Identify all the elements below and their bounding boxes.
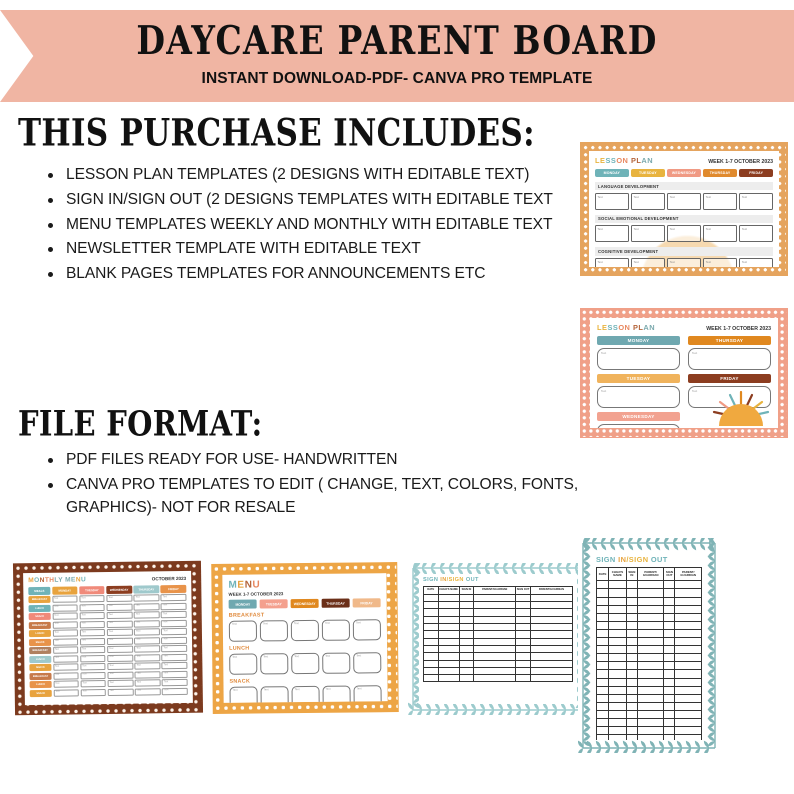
table-cell[interactable] bbox=[626, 621, 637, 629]
menu-cell[interactable]: Text bbox=[108, 688, 134, 695]
menu-cell[interactable]: Text bbox=[134, 611, 160, 618]
table-row[interactable] bbox=[597, 694, 702, 702]
table-cell[interactable] bbox=[438, 660, 459, 667]
menu-cell[interactable]: Text bbox=[135, 688, 161, 695]
table-cell[interactable] bbox=[438, 631, 459, 638]
table-cell[interactable] bbox=[597, 686, 609, 694]
table-cell[interactable] bbox=[626, 597, 637, 605]
table-cell[interactable] bbox=[424, 631, 439, 638]
table-cell[interactable] bbox=[597, 597, 609, 605]
menu-cell[interactable]: Text bbox=[80, 663, 106, 670]
table-cell[interactable] bbox=[609, 597, 627, 605]
table-row[interactable] bbox=[424, 602, 573, 609]
menu-cell[interactable]: Text bbox=[53, 672, 79, 679]
menu-cell[interactable]: Text bbox=[353, 652, 381, 673]
table-cell[interactable] bbox=[459, 609, 474, 616]
table-cell[interactable] bbox=[637, 686, 664, 694]
table-cell[interactable] bbox=[637, 718, 664, 726]
table-row[interactable] bbox=[597, 686, 702, 694]
menu-cell[interactable]: Text bbox=[162, 653, 188, 660]
table-cell[interactable] bbox=[438, 624, 459, 631]
table-cell[interactable] bbox=[438, 645, 459, 652]
table-cell[interactable] bbox=[459, 653, 474, 660]
table-row[interactable] bbox=[597, 654, 702, 662]
table-cell[interactable] bbox=[626, 727, 637, 735]
table-cell[interactable] bbox=[424, 645, 439, 652]
table-cell[interactable] bbox=[637, 702, 664, 710]
menu-cell[interactable]: Text bbox=[106, 595, 132, 602]
table-cell[interactable] bbox=[675, 589, 702, 597]
table-cell[interactable] bbox=[516, 602, 531, 609]
table-cell[interactable] bbox=[609, 581, 627, 589]
menu-cell[interactable]: Text bbox=[53, 638, 79, 645]
table-cell[interactable] bbox=[597, 662, 609, 670]
menu-cell[interactable]: Text bbox=[52, 595, 78, 602]
table-cell[interactable] bbox=[664, 686, 675, 694]
table-cell[interactable] bbox=[530, 653, 572, 660]
table-cell[interactable] bbox=[626, 670, 637, 678]
table-cell[interactable] bbox=[626, 718, 637, 726]
table-cell[interactable] bbox=[675, 702, 702, 710]
menu-cell[interactable]: Text bbox=[162, 687, 188, 694]
table-cell[interactable] bbox=[459, 660, 474, 667]
table-cell[interactable] bbox=[637, 678, 664, 686]
table-cell[interactable] bbox=[626, 589, 637, 597]
table-row[interactable] bbox=[424, 616, 573, 623]
table-cell[interactable] bbox=[637, 629, 664, 637]
menu-cell[interactable]: Text bbox=[291, 620, 319, 641]
table-cell[interactable] bbox=[424, 609, 439, 616]
menu-cell[interactable]: Text bbox=[161, 602, 187, 609]
table-cell[interactable] bbox=[664, 678, 675, 686]
table-cell[interactable] bbox=[474, 667, 516, 674]
table-cell[interactable] bbox=[459, 645, 474, 652]
menu-cell[interactable]: Text bbox=[107, 603, 133, 610]
table-cell[interactable] bbox=[626, 662, 637, 670]
table-cell[interactable] bbox=[675, 727, 702, 735]
table-cell[interactable] bbox=[530, 638, 572, 645]
menu-cell[interactable]: Text bbox=[80, 680, 106, 687]
table-cell[interactable] bbox=[516, 638, 531, 645]
menu-cell[interactable]: Text bbox=[107, 612, 133, 619]
table-row[interactable] bbox=[597, 581, 702, 589]
table-cell[interactable] bbox=[609, 605, 627, 613]
lesson-cell[interactable]: Text bbox=[703, 258, 737, 267]
menu-cell[interactable]: Text bbox=[80, 629, 106, 636]
menu-cell[interactable]: Text bbox=[162, 662, 188, 669]
table-cell[interactable] bbox=[597, 727, 609, 735]
menu-cell[interactable]: Text bbox=[134, 654, 160, 661]
table-cell[interactable] bbox=[530, 631, 572, 638]
menu-cell[interactable]: Text bbox=[53, 680, 79, 687]
lesson-cell[interactable]: Text bbox=[597, 424, 680, 428]
table-cell[interactable] bbox=[609, 718, 627, 726]
table-cell[interactable] bbox=[459, 594, 474, 601]
table-row[interactable] bbox=[424, 653, 573, 660]
table-cell[interactable] bbox=[459, 631, 474, 638]
table-cell[interactable] bbox=[637, 735, 664, 740]
menu-cell[interactable]: Text bbox=[80, 655, 106, 662]
menu-cell[interactable]: Text bbox=[229, 654, 257, 675]
table-cell[interactable] bbox=[664, 670, 675, 678]
table-row[interactable] bbox=[424, 660, 573, 667]
menu-cell[interactable]: Text bbox=[107, 654, 133, 661]
table-cell[interactable] bbox=[597, 678, 609, 686]
lesson-cell[interactable]: Text bbox=[667, 258, 701, 267]
table-cell[interactable] bbox=[637, 589, 664, 597]
table-row[interactable] bbox=[424, 638, 573, 645]
table-cell[interactable] bbox=[664, 702, 675, 710]
menu-cell[interactable]: Text bbox=[161, 594, 187, 601]
table-cell[interactable] bbox=[438, 667, 459, 674]
table-cell[interactable] bbox=[609, 678, 627, 686]
menu-cell[interactable]: Text bbox=[292, 686, 320, 703]
table-cell[interactable] bbox=[675, 605, 702, 613]
lesson-cell[interactable]: Text bbox=[595, 193, 629, 210]
table-cell[interactable] bbox=[637, 710, 664, 718]
menu-cell[interactable]: Text bbox=[291, 653, 319, 674]
table-cell[interactable] bbox=[459, 602, 474, 609]
table-cell[interactable] bbox=[474, 653, 516, 660]
menu-cell[interactable]: Text bbox=[162, 679, 188, 686]
table-row[interactable] bbox=[597, 678, 702, 686]
table-cell[interactable] bbox=[664, 589, 675, 597]
menu-cell[interactable]: Text bbox=[52, 604, 78, 611]
table-cell[interactable] bbox=[675, 613, 702, 621]
table-cell[interactable] bbox=[675, 662, 702, 670]
table-row[interactable] bbox=[597, 710, 702, 718]
menu-cell[interactable]: Text bbox=[107, 663, 133, 670]
menu-cell[interactable]: Text bbox=[230, 687, 258, 703]
table-cell[interactable] bbox=[626, 613, 637, 621]
table-cell[interactable] bbox=[516, 609, 531, 616]
table-cell[interactable] bbox=[664, 662, 675, 670]
table-cell[interactable] bbox=[438, 609, 459, 616]
lesson-cell[interactable]: Text bbox=[631, 258, 665, 267]
lesson-cell[interactable]: Text bbox=[739, 225, 773, 242]
table-cell[interactable] bbox=[597, 581, 609, 589]
menu-cell[interactable]: Text bbox=[162, 645, 188, 652]
menu-cell[interactable]: Text bbox=[80, 621, 106, 628]
menu-cell[interactable]: Text bbox=[135, 671, 161, 678]
menu-cell[interactable]: Text bbox=[322, 653, 350, 674]
table-cell[interactable] bbox=[474, 675, 516, 682]
table-cell[interactable] bbox=[664, 710, 675, 718]
table-cell[interactable] bbox=[609, 735, 627, 740]
menu-cell[interactable]: Text bbox=[107, 646, 133, 653]
table-row[interactable] bbox=[424, 631, 573, 638]
table-cell[interactable] bbox=[675, 629, 702, 637]
table-cell[interactable] bbox=[664, 629, 675, 637]
table-cell[interactable] bbox=[530, 624, 572, 631]
table-cell[interactable] bbox=[438, 675, 459, 682]
table-cell[interactable] bbox=[597, 629, 609, 637]
table-cell[interactable] bbox=[597, 638, 609, 646]
table-row[interactable] bbox=[597, 589, 702, 597]
table-cell[interactable] bbox=[474, 631, 516, 638]
table-cell[interactable] bbox=[637, 605, 664, 613]
table-cell[interactable] bbox=[626, 629, 637, 637]
table-cell[interactable] bbox=[597, 670, 609, 678]
table-row[interactable] bbox=[597, 613, 702, 621]
table-cell[interactable] bbox=[609, 662, 627, 670]
table-cell[interactable] bbox=[424, 653, 439, 660]
table-cell[interactable] bbox=[516, 616, 531, 623]
menu-cell[interactable]: Text bbox=[79, 612, 105, 619]
menu-cell[interactable]: Text bbox=[135, 679, 161, 686]
table-cell[interactable] bbox=[664, 621, 675, 629]
menu-cell[interactable]: Text bbox=[53, 646, 79, 653]
table-cell[interactable] bbox=[474, 602, 516, 609]
lesson-cell[interactable]: Text bbox=[703, 193, 737, 210]
menu-cell[interactable]: Text bbox=[52, 621, 78, 628]
table-cell[interactable] bbox=[626, 654, 637, 662]
menu-cell[interactable]: Text bbox=[134, 603, 160, 610]
table-cell[interactable] bbox=[637, 727, 664, 735]
table-cell[interactable] bbox=[664, 654, 675, 662]
table-cell[interactable] bbox=[516, 653, 531, 660]
table-row[interactable] bbox=[597, 670, 702, 678]
table-cell[interactable] bbox=[675, 597, 702, 605]
menu-cell[interactable]: Text bbox=[107, 620, 133, 627]
lesson-cell[interactable]: Text bbox=[595, 258, 629, 267]
table-row[interactable] bbox=[424, 675, 573, 682]
menu-cell[interactable]: Text bbox=[134, 645, 160, 652]
table-cell[interactable] bbox=[609, 694, 627, 702]
menu-cell[interactable]: Text bbox=[107, 637, 133, 644]
menu-cell[interactable]: Text bbox=[80, 638, 106, 645]
table-cell[interactable] bbox=[609, 702, 627, 710]
table-row[interactable] bbox=[597, 727, 702, 735]
lesson-cell[interactable]: Text bbox=[631, 193, 665, 210]
table-cell[interactable] bbox=[516, 675, 531, 682]
table-row[interactable] bbox=[597, 662, 702, 670]
table-cell[interactable] bbox=[675, 654, 702, 662]
table-cell[interactable] bbox=[609, 629, 627, 637]
table-cell[interactable] bbox=[424, 667, 439, 674]
menu-cell[interactable]: Text bbox=[323, 686, 351, 703]
menu-cell[interactable]: Text bbox=[79, 595, 105, 602]
table-cell[interactable] bbox=[474, 660, 516, 667]
table-cell[interactable] bbox=[597, 646, 609, 654]
menu-cell[interactable]: Text bbox=[134, 628, 160, 635]
menu-cell[interactable]: Text bbox=[79, 604, 105, 611]
table-cell[interactable] bbox=[438, 602, 459, 609]
table-cell[interactable] bbox=[626, 581, 637, 589]
table-cell[interactable] bbox=[637, 670, 664, 678]
table-cell[interactable] bbox=[516, 624, 531, 631]
lesson-cell[interactable]: Text bbox=[667, 225, 701, 242]
lesson-cell[interactable]: Text bbox=[739, 193, 773, 210]
menu-cell[interactable]: Text bbox=[134, 594, 160, 601]
table-cell[interactable] bbox=[664, 718, 675, 726]
menu-cell[interactable]: Text bbox=[81, 689, 107, 696]
table-cell[interactable] bbox=[675, 718, 702, 726]
table-cell[interactable] bbox=[424, 660, 439, 667]
menu-cell[interactable]: Text bbox=[80, 672, 106, 679]
table-cell[interactable] bbox=[664, 597, 675, 605]
table-cell[interactable] bbox=[474, 609, 516, 616]
table-row[interactable] bbox=[597, 735, 702, 740]
menu-cell[interactable]: Text bbox=[229, 621, 257, 642]
table-cell[interactable] bbox=[597, 613, 609, 621]
table-cell[interactable] bbox=[626, 694, 637, 702]
table-cell[interactable] bbox=[626, 646, 637, 654]
table-cell[interactable] bbox=[597, 694, 609, 702]
menu-cell[interactable]: Text bbox=[261, 686, 289, 703]
table-cell[interactable] bbox=[609, 613, 627, 621]
menu-cell[interactable]: Text bbox=[322, 620, 350, 641]
menu-cell[interactable]: Text bbox=[161, 636, 187, 643]
table-cell[interactable] bbox=[609, 654, 627, 662]
table-row[interactable] bbox=[597, 646, 702, 654]
table-cell[interactable] bbox=[597, 589, 609, 597]
menu-cell[interactable]: Text bbox=[52, 612, 78, 619]
table-cell[interactable] bbox=[597, 702, 609, 710]
table-cell[interactable] bbox=[609, 638, 627, 646]
table-cell[interactable] bbox=[474, 624, 516, 631]
table-row[interactable] bbox=[424, 609, 573, 616]
table-cell[interactable] bbox=[530, 594, 572, 601]
menu-cell[interactable]: Text bbox=[53, 689, 79, 696]
table-cell[interactable] bbox=[474, 638, 516, 645]
lesson-cell[interactable]: Text bbox=[739, 258, 773, 267]
table-cell[interactable] bbox=[664, 605, 675, 613]
menu-cell[interactable]: Text bbox=[135, 662, 161, 669]
table-cell[interactable] bbox=[664, 638, 675, 646]
menu-cell[interactable]: Text bbox=[108, 680, 134, 687]
table-cell[interactable] bbox=[516, 594, 531, 601]
table-row[interactable] bbox=[597, 597, 702, 605]
table-cell[interactable] bbox=[637, 662, 664, 670]
table-cell[interactable] bbox=[438, 616, 459, 623]
table-cell[interactable] bbox=[597, 621, 609, 629]
table-cell[interactable] bbox=[664, 694, 675, 702]
table-row[interactable] bbox=[597, 629, 702, 637]
table-cell[interactable] bbox=[516, 631, 531, 638]
table-cell[interactable] bbox=[609, 727, 627, 735]
table-row[interactable] bbox=[424, 645, 573, 652]
menu-cell[interactable]: Text bbox=[161, 628, 187, 635]
table-cell[interactable] bbox=[459, 624, 474, 631]
menu-cell[interactable]: Text bbox=[107, 629, 133, 636]
table-cell[interactable] bbox=[438, 638, 459, 645]
table-cell[interactable] bbox=[609, 589, 627, 597]
table-cell[interactable] bbox=[675, 670, 702, 678]
table-cell[interactable] bbox=[597, 718, 609, 726]
table-cell[interactable] bbox=[530, 616, 572, 623]
table-cell[interactable] bbox=[664, 581, 675, 589]
table-cell[interactable] bbox=[597, 735, 609, 740]
table-cell[interactable] bbox=[459, 667, 474, 674]
table-cell[interactable] bbox=[664, 727, 675, 735]
table-cell[interactable] bbox=[637, 597, 664, 605]
table-cell[interactable] bbox=[597, 710, 609, 718]
table-cell[interactable] bbox=[626, 638, 637, 646]
table-cell[interactable] bbox=[438, 653, 459, 660]
table-cell[interactable] bbox=[637, 638, 664, 646]
lesson-cell[interactable]: Text bbox=[631, 225, 665, 242]
menu-cell[interactable]: Text bbox=[52, 629, 78, 636]
table-row[interactable] bbox=[597, 718, 702, 726]
table-cell[interactable] bbox=[424, 616, 439, 623]
table-cell[interactable] bbox=[516, 667, 531, 674]
table-cell[interactable] bbox=[609, 670, 627, 678]
table-cell[interactable] bbox=[474, 616, 516, 623]
table-cell[interactable] bbox=[675, 710, 702, 718]
table-cell[interactable] bbox=[609, 686, 627, 694]
table-cell[interactable] bbox=[675, 621, 702, 629]
table-cell[interactable] bbox=[637, 694, 664, 702]
menu-cell[interactable]: Text bbox=[260, 653, 288, 674]
table-cell[interactable] bbox=[637, 621, 664, 629]
table-cell[interactable] bbox=[664, 646, 675, 654]
table-cell[interactable] bbox=[516, 645, 531, 652]
table-cell[interactable] bbox=[530, 609, 572, 616]
menu-cell[interactable]: Text bbox=[161, 619, 187, 626]
table-cell[interactable] bbox=[637, 581, 664, 589]
menu-cell[interactable]: Text bbox=[161, 611, 187, 618]
table-cell[interactable] bbox=[424, 675, 439, 682]
table-cell[interactable] bbox=[675, 686, 702, 694]
table-cell[interactable] bbox=[530, 675, 572, 682]
lesson-cell[interactable]: Text bbox=[703, 225, 737, 242]
table-cell[interactable] bbox=[675, 694, 702, 702]
lesson-cell[interactable]: Text bbox=[595, 225, 629, 242]
table-row[interactable] bbox=[597, 702, 702, 710]
table-cell[interactable] bbox=[474, 594, 516, 601]
table-cell[interactable] bbox=[609, 621, 627, 629]
table-cell[interactable] bbox=[675, 678, 702, 686]
menu-cell[interactable]: Text bbox=[353, 619, 381, 640]
table-cell[interactable] bbox=[424, 624, 439, 631]
table-cell[interactable] bbox=[626, 710, 637, 718]
table-cell[interactable] bbox=[637, 646, 664, 654]
table-cell[interactable] bbox=[530, 602, 572, 609]
table-cell[interactable] bbox=[424, 594, 439, 601]
table-cell[interactable] bbox=[438, 594, 459, 601]
lesson-cell[interactable]: Text bbox=[667, 193, 701, 210]
table-row[interactable] bbox=[597, 605, 702, 613]
table-cell[interactable] bbox=[530, 645, 572, 652]
menu-cell[interactable]: Text bbox=[107, 671, 133, 678]
table-cell[interactable] bbox=[626, 735, 637, 740]
table-cell[interactable] bbox=[675, 581, 702, 589]
table-cell[interactable] bbox=[664, 613, 675, 621]
lesson-cell[interactable]: Text bbox=[597, 348, 680, 370]
table-cell[interactable] bbox=[675, 638, 702, 646]
table-row[interactable] bbox=[597, 621, 702, 629]
table-cell[interactable] bbox=[637, 613, 664, 621]
table-cell[interactable] bbox=[516, 660, 531, 667]
table-cell[interactable] bbox=[597, 654, 609, 662]
lesson-cell[interactable]: Text bbox=[688, 348, 771, 370]
table-cell[interactable] bbox=[609, 710, 627, 718]
table-cell[interactable] bbox=[459, 616, 474, 623]
table-cell[interactable] bbox=[675, 735, 702, 740]
table-row[interactable] bbox=[424, 594, 573, 601]
table-row[interactable] bbox=[424, 667, 573, 674]
menu-cell[interactable]: Text bbox=[53, 663, 79, 670]
table-cell[interactable] bbox=[474, 645, 516, 652]
table-cell[interactable] bbox=[530, 667, 572, 674]
menu-cell[interactable]: Text bbox=[134, 620, 160, 627]
lesson-cell[interactable]: Text bbox=[597, 386, 680, 408]
table-cell[interactable] bbox=[530, 660, 572, 667]
table-cell[interactable] bbox=[626, 702, 637, 710]
table-row[interactable] bbox=[424, 624, 573, 631]
menu-cell[interactable]: Text bbox=[53, 655, 79, 662]
